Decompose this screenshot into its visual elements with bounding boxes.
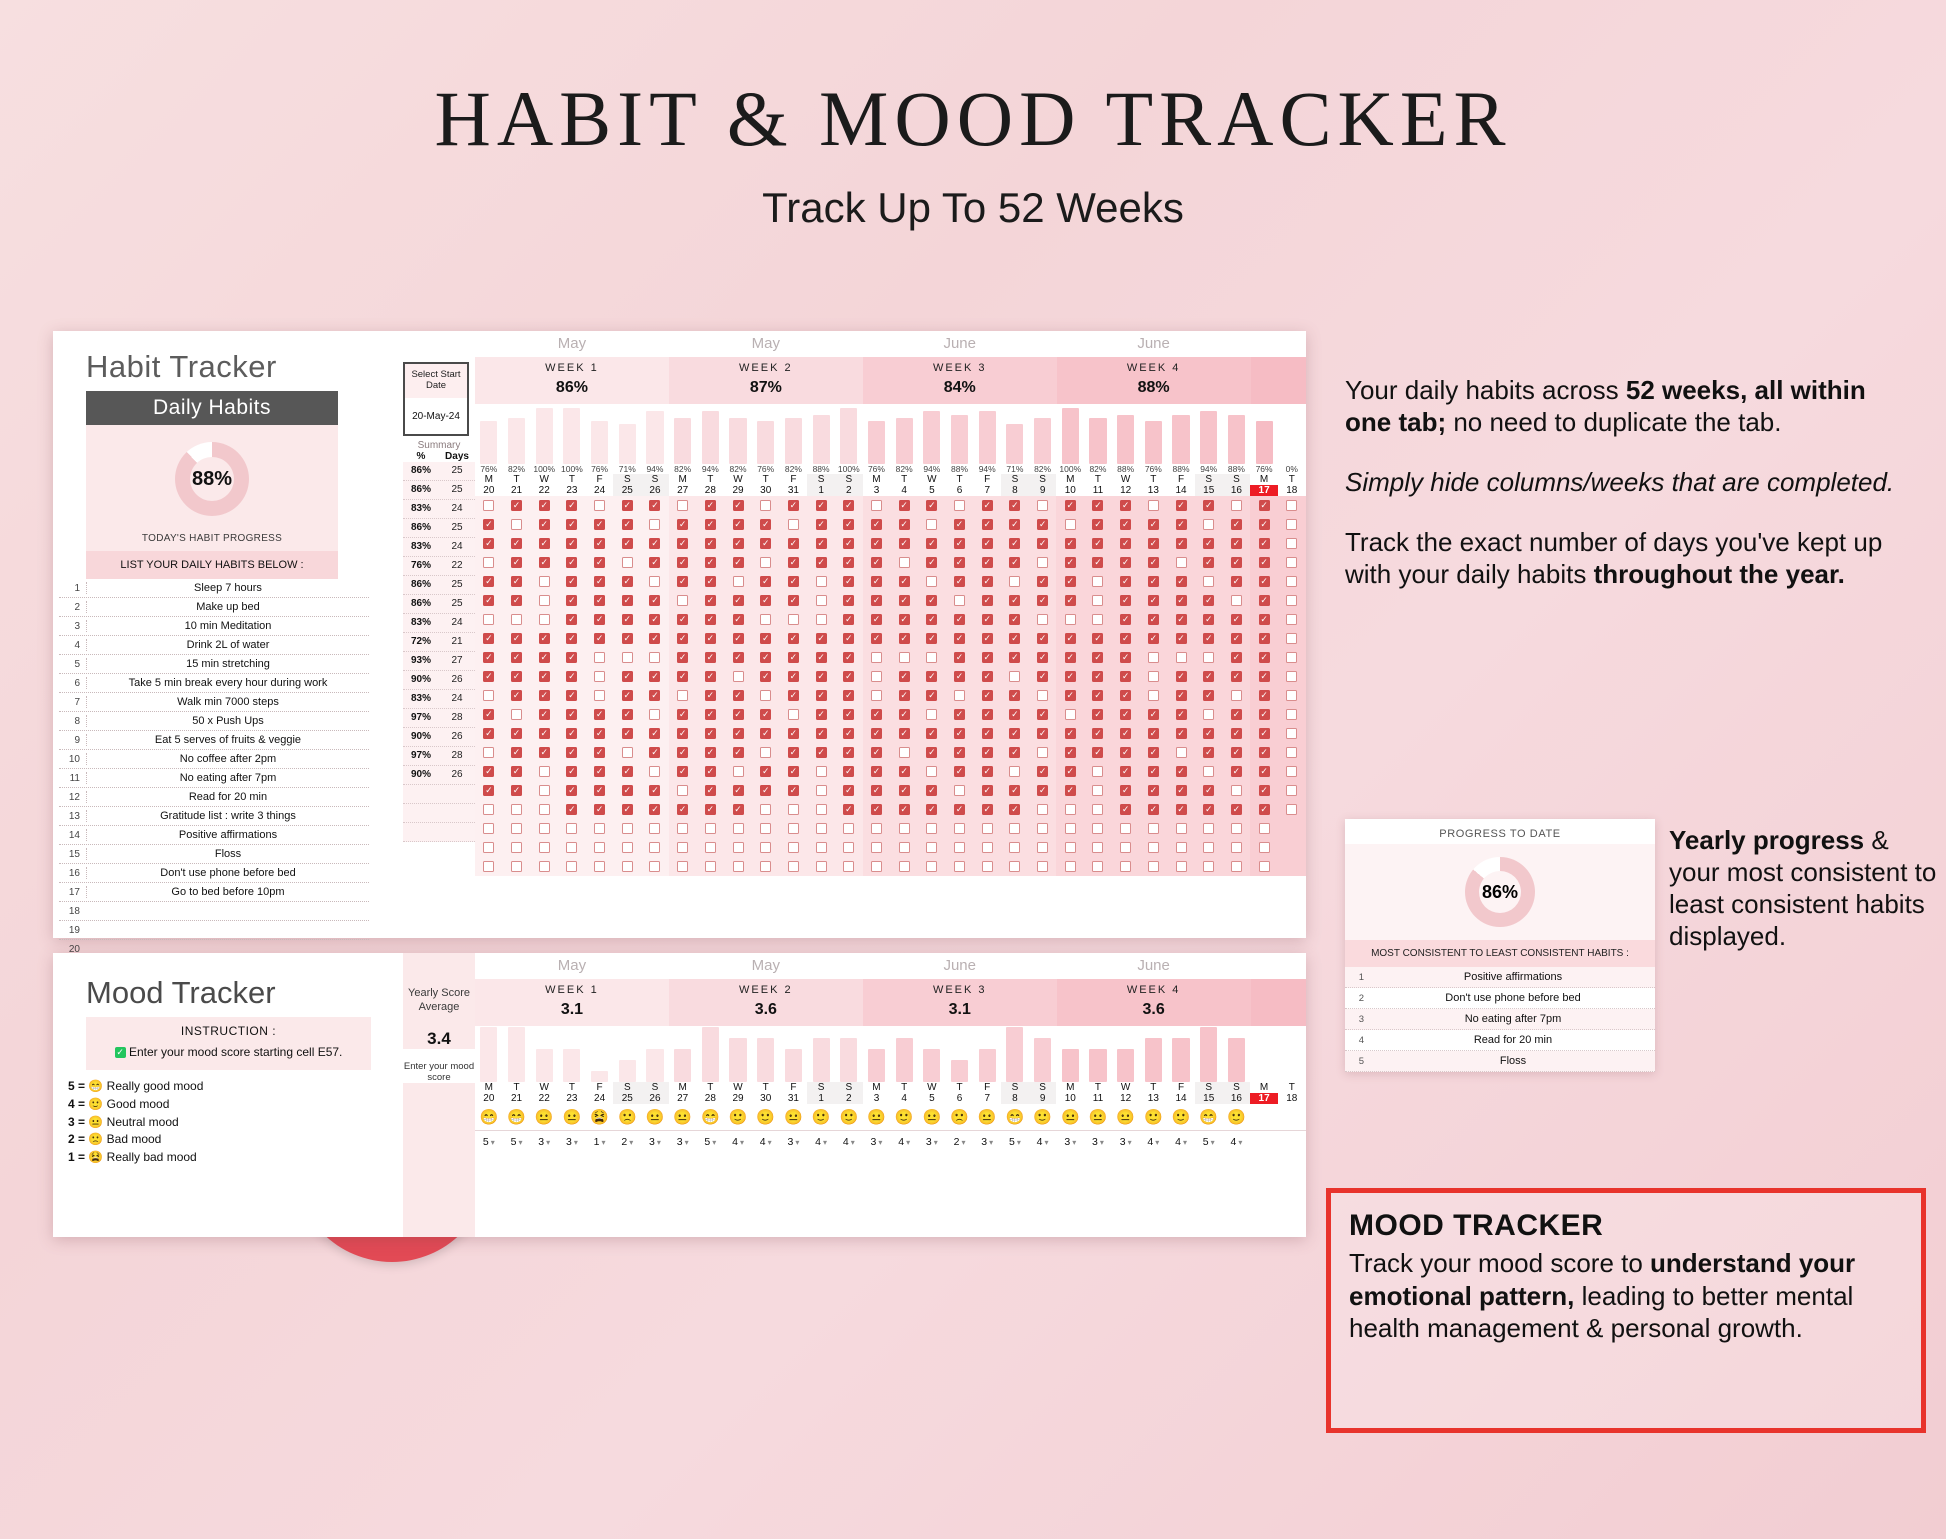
habit-checkbox[interactable]: [899, 519, 910, 530]
habit-check-cell[interactable]: [1278, 648, 1306, 667]
habit-checkbox[interactable]: [871, 861, 882, 872]
habit-checkbox[interactable]: [677, 747, 688, 758]
habit-check-cell[interactable]: [1112, 743, 1140, 762]
habit-check-cell[interactable]: [835, 857, 863, 876]
habit-check-cell[interactable]: [863, 857, 891, 876]
habit-check-cell[interactable]: [558, 553, 586, 572]
habit-check-cell[interactable]: [1084, 496, 1112, 515]
habit-checkbox[interactable]: [788, 766, 799, 777]
habit-check-cell[interactable]: [1195, 781, 1223, 800]
habit-checkbox[interactable]: [539, 766, 550, 777]
habit-checkbox[interactable]: [511, 633, 522, 644]
habit-check-cell[interactable]: [613, 686, 641, 705]
habit-checkbox[interactable]: [483, 690, 494, 701]
habit-checkbox[interactable]: [677, 652, 688, 663]
habit-check-cell[interactable]: [1084, 819, 1112, 838]
habit-checkbox[interactable]: [1120, 709, 1131, 720]
habit-checkbox[interactable]: [566, 576, 577, 587]
habit-checkbox[interactable]: [954, 614, 965, 625]
habit-check-cell[interactable]: [586, 591, 614, 610]
habit-checkbox[interactable]: [566, 861, 577, 872]
habit-checkbox[interactable]: [511, 500, 522, 511]
habit-checkbox[interactable]: [1037, 766, 1048, 777]
habit-checkbox[interactable]: [843, 728, 854, 739]
habit-checkbox[interactable]: [622, 633, 633, 644]
habit-check-cell[interactable]: [530, 724, 558, 743]
chevron-down-icon[interactable]: ▾: [1017, 1138, 1021, 1147]
habit-checkbox[interactable]: [788, 614, 799, 625]
habit-checkbox[interactable]: [1009, 652, 1020, 663]
habit-check-cell[interactable]: [1250, 610, 1278, 629]
habit-check-cell[interactable]: [780, 648, 808, 667]
habit-checkbox[interactable]: [622, 538, 633, 549]
habit-checkbox[interactable]: [1176, 842, 1187, 853]
mood-score-cell[interactable]: 3▾: [863, 1136, 891, 1148]
habit-checkbox[interactable]: [788, 747, 799, 758]
habit-check-cell[interactable]: [1056, 705, 1084, 724]
habit-check-cell[interactable]: [890, 572, 918, 591]
habit-check-cell[interactable]: [1278, 819, 1306, 838]
habit-check-cell[interactable]: [530, 686, 558, 705]
habit-check-cell[interactable]: [1001, 553, 1029, 572]
mood-score-cell[interactable]: 5▾: [1195, 1136, 1223, 1148]
habit-check-cell[interactable]: [641, 610, 669, 629]
habit-check-cell[interactable]: [1056, 515, 1084, 534]
habit-checkbox[interactable]: [622, 804, 633, 815]
habit-check-cell[interactable]: [1084, 515, 1112, 534]
habit-check-cell[interactable]: [890, 705, 918, 724]
habit-checkbox[interactable]: [1065, 690, 1076, 701]
start-date-picker[interactable]: Select Start Date 20-May-24: [403, 362, 469, 436]
habit-checkbox[interactable]: [649, 842, 660, 853]
habit-checkbox[interactable]: [1259, 823, 1270, 834]
habit-check-cell[interactable]: [1084, 629, 1112, 648]
habit-checkbox[interactable]: [677, 785, 688, 796]
habit-check-cell[interactable]: [1140, 496, 1168, 515]
habit-checkbox[interactable]: [1259, 766, 1270, 777]
habit-checkbox[interactable]: [954, 728, 965, 739]
habit-check-cell[interactable]: [697, 762, 725, 781]
mood-score-cell[interactable]: 3▾: [1056, 1136, 1084, 1148]
habit-check-cell[interactable]: [1278, 724, 1306, 743]
habit-checkbox[interactable]: [1286, 728, 1297, 739]
habit-checkbox[interactable]: [1259, 747, 1270, 758]
habit-checkbox[interactable]: [1148, 823, 1159, 834]
habit-check-cell[interactable]: [1223, 819, 1251, 838]
habit-checkbox[interactable]: [954, 538, 965, 549]
habit-checkbox[interactable]: [1286, 804, 1297, 815]
habit-name[interactable]: Go to bed before 10pm: [86, 886, 369, 898]
habit-check-cell[interactable]: [973, 857, 1001, 876]
habit-checkbox[interactable]: [1259, 519, 1270, 530]
habit-checkbox[interactable]: [566, 538, 577, 549]
habit-check-cell[interactable]: [503, 496, 531, 515]
habit-checkbox[interactable]: [1065, 671, 1076, 682]
habit-checkbox[interactable]: [483, 861, 494, 872]
habit-checkbox[interactable]: [816, 671, 827, 682]
habit-checkbox[interactable]: [705, 671, 716, 682]
habit-check-cell[interactable]: [558, 724, 586, 743]
habit-checkbox[interactable]: [1092, 595, 1103, 606]
habit-checkbox[interactable]: [483, 842, 494, 853]
habit-checkbox[interactable]: [871, 842, 882, 853]
habit-check-cell[interactable]: [697, 819, 725, 838]
habit-checkbox[interactable]: [788, 500, 799, 511]
habit-checkbox[interactable]: [677, 842, 688, 853]
habit-checkbox[interactable]: [1092, 709, 1103, 720]
habit-checkbox[interactable]: [760, 652, 771, 663]
habit-checkbox[interactable]: [677, 576, 688, 587]
habit-check-cell[interactable]: [1223, 762, 1251, 781]
habit-checkbox[interactable]: [1037, 728, 1048, 739]
habit-check-cell[interactable]: [1140, 705, 1168, 724]
habit-check-cell[interactable]: [641, 686, 669, 705]
habit-check-cell[interactable]: [1084, 534, 1112, 553]
habit-checkbox[interactable]: [677, 690, 688, 701]
habit-check-cell[interactable]: [807, 705, 835, 724]
habit-checkbox[interactable]: [705, 747, 716, 758]
habit-name[interactable]: 10 min Meditation: [86, 620, 369, 632]
habit-check-cell[interactable]: [1140, 743, 1168, 762]
habit-check-cell[interactable]: [475, 838, 503, 857]
habit-checkbox[interactable]: [1203, 861, 1214, 872]
habit-checkbox[interactable]: [816, 633, 827, 644]
habit-checkbox[interactable]: [594, 709, 605, 720]
mood-score-cell[interactable]: 3▾: [558, 1136, 586, 1148]
habit-checkbox[interactable]: [511, 576, 522, 587]
habit-check-cell[interactable]: [780, 667, 808, 686]
habit-check-cell[interactable]: [530, 515, 558, 534]
habit-check-cell[interactable]: [1167, 762, 1195, 781]
habit-checkbox[interactable]: [622, 500, 633, 511]
habit-checkbox[interactable]: [705, 823, 716, 834]
habit-checkbox[interactable]: [733, 557, 744, 568]
habit-check-cell[interactable]: [724, 648, 752, 667]
chevron-down-icon[interactable]: ▾: [906, 1138, 910, 1147]
habit-checkbox[interactable]: [1065, 709, 1076, 720]
habit-checkbox[interactable]: [733, 785, 744, 796]
habit-checkbox[interactable]: [539, 652, 550, 663]
habit-checkbox[interactable]: [1203, 842, 1214, 853]
habit-checkbox[interactable]: [1009, 519, 1020, 530]
habit-check-cell[interactable]: [807, 496, 835, 515]
habit-check-cell[interactable]: [558, 515, 586, 534]
habit-checkbox[interactable]: [1065, 785, 1076, 796]
habit-checkbox[interactable]: [899, 861, 910, 872]
habit-checkbox[interactable]: [1231, 861, 1242, 872]
habit-check-cell[interactable]: [1112, 610, 1140, 629]
habit-check-cell[interactable]: [669, 705, 697, 724]
habit-name[interactable]: Floss: [86, 848, 369, 860]
habit-checkbox[interactable]: [760, 842, 771, 853]
habit-check-cell[interactable]: [641, 591, 669, 610]
habit-check-cell[interactable]: [752, 515, 780, 534]
habit-check-cell[interactable]: [1084, 667, 1112, 686]
habit-check-cell[interactable]: [503, 648, 531, 667]
habit-checkbox[interactable]: [1120, 557, 1131, 568]
habit-check-cell[interactable]: [780, 629, 808, 648]
chevron-down-icon[interactable]: ▾: [712, 1138, 716, 1147]
habit-check-cell[interactable]: [1001, 838, 1029, 857]
habit-checkbox[interactable]: [483, 576, 494, 587]
habit-check-cell[interactable]: [780, 819, 808, 838]
habit-checkbox[interactable]: [511, 557, 522, 568]
mood-score-row[interactable]: 5▾5▾3▾3▾1▾2▾3▾3▾5▾4▾4▾3▾4▾4▾3▾4▾3▾2▾3▾5▾…: [475, 1130, 1306, 1152]
habit-checkbox[interactable]: [843, 614, 854, 625]
habit-checkbox[interactable]: [1203, 785, 1214, 796]
habit-checkbox[interactable]: [760, 861, 771, 872]
habit-check-cell[interactable]: [973, 667, 1001, 686]
habit-checkbox[interactable]: [1037, 519, 1048, 530]
habit-checkbox[interactable]: [1259, 804, 1270, 815]
habit-checkbox[interactable]: [1037, 500, 1048, 511]
chevron-down-icon[interactable]: ▾: [1211, 1138, 1215, 1147]
habit-checkbox[interactable]: [1148, 785, 1159, 796]
habit-check-cell[interactable]: [1195, 667, 1223, 686]
habit-check-cell[interactable]: [475, 743, 503, 762]
habit-checkbox[interactable]: [622, 785, 633, 796]
habit-check-cell[interactable]: [1001, 591, 1029, 610]
habit-check-cell[interactable]: [1029, 686, 1057, 705]
habit-checkbox[interactable]: [1231, 614, 1242, 625]
habit-check-cell[interactable]: [807, 743, 835, 762]
habit-checkbox[interactable]: [843, 671, 854, 682]
habit-checkbox[interactable]: [511, 538, 522, 549]
habit-check-cell[interactable]: [475, 515, 503, 534]
habit-checkbox[interactable]: [1231, 785, 1242, 796]
habit-check-cell[interactable]: [918, 629, 946, 648]
habit-check-cell[interactable]: [890, 838, 918, 857]
habit-checkbox[interactable]: [622, 519, 633, 530]
habit-check-cell[interactable]: [1056, 724, 1084, 743]
habit-check-cell[interactable]: [641, 572, 669, 591]
habit-checkbox[interactable]: [1120, 861, 1131, 872]
habit-checkbox[interactable]: [705, 804, 716, 815]
habit-check-cell[interactable]: [586, 838, 614, 857]
habit-check-cell[interactable]: [918, 838, 946, 857]
habit-check-cell[interactable]: [530, 762, 558, 781]
habit-checkbox[interactable]: [1148, 690, 1159, 701]
habit-check-cell[interactable]: [586, 553, 614, 572]
habit-checkbox[interactable]: [566, 842, 577, 853]
habit-checkbox[interactable]: [871, 785, 882, 796]
habit-check-cell[interactable]: [530, 496, 558, 515]
habit-checkbox[interactable]: [733, 595, 744, 606]
habit-checkbox[interactable]: [483, 671, 494, 682]
habit-checkbox[interactable]: [705, 500, 716, 511]
habit-checkbox[interactable]: [1037, 747, 1048, 758]
habit-checkbox[interactable]: [733, 652, 744, 663]
chevron-down-icon[interactable]: ▾: [851, 1138, 855, 1147]
habit-check-cell[interactable]: [1112, 648, 1140, 667]
habit-checkbox[interactable]: [1176, 538, 1187, 549]
habit-checkbox[interactable]: [1092, 500, 1103, 511]
habit-checkbox[interactable]: [1120, 785, 1131, 796]
habit-checkbox[interactable]: [566, 652, 577, 663]
habit-check-cell[interactable]: [946, 534, 974, 553]
habit-check-cell[interactable]: [863, 534, 891, 553]
habit-checkbox[interactable]: [954, 823, 965, 834]
habit-checkbox[interactable]: [1203, 709, 1214, 720]
habit-checkbox[interactable]: [760, 766, 771, 777]
habit-check-cell[interactable]: [1001, 534, 1029, 553]
habit-check-cell[interactable]: [475, 686, 503, 705]
habit-checkbox[interactable]: [871, 576, 882, 587]
habit-check-cell[interactable]: [918, 857, 946, 876]
habit-checkbox[interactable]: [677, 861, 688, 872]
habit-check-cell[interactable]: [1029, 496, 1057, 515]
chevron-down-icon[interactable]: ▾: [878, 1138, 882, 1147]
habit-checkbox[interactable]: [1148, 728, 1159, 739]
habit-check-cell[interactable]: [780, 857, 808, 876]
habit-checkbox[interactable]: [982, 595, 993, 606]
habit-checkbox[interactable]: [1092, 538, 1103, 549]
habit-check-cell[interactable]: [1001, 648, 1029, 667]
chevron-down-icon[interactable]: ▾: [795, 1138, 799, 1147]
habit-checkbox[interactable]: [622, 557, 633, 568]
habit-checkbox[interactable]: [594, 785, 605, 796]
habit-checkbox[interactable]: [1203, 500, 1214, 511]
habit-name[interactable]: 50 x Push Ups: [86, 715, 369, 727]
habit-checkbox[interactable]: [788, 842, 799, 853]
habit-check-cell[interactable]: [697, 743, 725, 762]
habit-checkbox[interactable]: [1286, 519, 1297, 530]
habit-checkbox[interactable]: [1009, 671, 1020, 682]
habit-check-cell[interactable]: [530, 629, 558, 648]
habit-checkbox[interactable]: [816, 557, 827, 568]
habit-checkbox[interactable]: [483, 785, 494, 796]
habit-checkbox[interactable]: [539, 728, 550, 739]
habit-checkbox[interactable]: [1231, 652, 1242, 663]
habit-check-cell[interactable]: [780, 800, 808, 819]
habit-check-cell[interactable]: [863, 496, 891, 515]
habit-check-cell[interactable]: [503, 762, 531, 781]
habit-checkbox[interactable]: [1148, 557, 1159, 568]
habit-check-cell[interactable]: [669, 553, 697, 572]
habit-check-cell[interactable]: [697, 648, 725, 667]
habit-check-cell[interactable]: [724, 591, 752, 610]
habit-check-cell[interactable]: [973, 819, 1001, 838]
mood-score-cell[interactable]: 5▾: [503, 1136, 531, 1148]
habit-checkbox[interactable]: [926, 766, 937, 777]
habit-check-cell[interactable]: [669, 762, 697, 781]
habit-check-cell[interactable]: [890, 534, 918, 553]
habit-check-cell[interactable]: [1001, 819, 1029, 838]
habit-check-cell[interactable]: [669, 800, 697, 819]
habit-checkbox[interactable]: [1148, 500, 1159, 511]
habit-check-cell[interactable]: [807, 838, 835, 857]
habit-check-cell[interactable]: [946, 515, 974, 534]
habit-checkbox[interactable]: [1120, 576, 1131, 587]
habit-check-cell[interactable]: [724, 553, 752, 572]
habit-checkbox[interactable]: [539, 500, 550, 511]
habit-checkbox[interactable]: [1286, 709, 1297, 720]
habit-check-cell[interactable]: [1223, 572, 1251, 591]
habit-checkbox[interactable]: [954, 595, 965, 606]
habit-check-cell[interactable]: [1056, 629, 1084, 648]
habit-checkbox[interactable]: [1231, 804, 1242, 815]
habit-checkbox[interactable]: [1037, 861, 1048, 872]
habit-checkbox[interactable]: [594, 804, 605, 815]
habit-checkbox[interactable]: [677, 595, 688, 606]
habit-checkbox[interactable]: [594, 576, 605, 587]
habit-check-cell[interactable]: [863, 515, 891, 534]
habit-check-cell[interactable]: [613, 572, 641, 591]
habit-checkbox[interactable]: [1286, 633, 1297, 644]
habit-checkbox[interactable]: [982, 519, 993, 530]
habit-check-cell[interactable]: [918, 648, 946, 667]
habit-checkbox[interactable]: [1092, 861, 1103, 872]
habit-checkbox[interactable]: [677, 633, 688, 644]
habit-checkbox[interactable]: [1286, 785, 1297, 796]
habit-check-cell[interactable]: [641, 762, 669, 781]
habit-check-cell[interactable]: [1112, 534, 1140, 553]
habit-checkbox[interactable]: [1092, 652, 1103, 663]
habit-check-cell[interactable]: [890, 743, 918, 762]
habit-checkbox[interactable]: [871, 614, 882, 625]
habit-checkbox[interactable]: [622, 671, 633, 682]
habit-check-cell[interactable]: [1167, 629, 1195, 648]
habit-check-cell[interactable]: [1278, 515, 1306, 534]
habit-checkbox[interactable]: [1037, 823, 1048, 834]
habit-checkbox[interactable]: [1231, 633, 1242, 644]
habit-checkbox[interactable]: [511, 519, 522, 530]
habit-check-cell[interactable]: [1278, 553, 1306, 572]
habit-checkbox[interactable]: [1286, 652, 1297, 663]
habit-checkbox[interactable]: [1009, 595, 1020, 606]
habit-check-cell[interactable]: [1001, 610, 1029, 629]
habit-check-cell[interactable]: [1167, 667, 1195, 686]
habit-check-cell[interactable]: [697, 553, 725, 572]
habit-check-cell[interactable]: [835, 572, 863, 591]
habit-check-cell[interactable]: [669, 610, 697, 629]
habit-checkbox[interactable]: [871, 595, 882, 606]
habit-checkbox[interactable]: [1176, 671, 1187, 682]
habit-checkbox[interactable]: [816, 690, 827, 701]
habit-check-cell[interactable]: [724, 762, 752, 781]
habit-name[interactable]: 15 min stretching: [86, 658, 369, 670]
habit-checkbox[interactable]: [511, 766, 522, 777]
habit-checkbox[interactable]: [926, 595, 937, 606]
habit-checkbox[interactable]: [1231, 728, 1242, 739]
habit-check-cell[interactable]: [475, 591, 503, 610]
habit-check-cell[interactable]: [835, 648, 863, 667]
mood-score-cell[interactable]: 4▾: [752, 1136, 780, 1148]
habit-check-cell[interactable]: [475, 762, 503, 781]
habit-check-cell[interactable]: [697, 515, 725, 534]
habit-checkbox[interactable]: [705, 595, 716, 606]
habit-checkbox[interactable]: [566, 804, 577, 815]
habit-check-cell[interactable]: [973, 838, 1001, 857]
habit-check-cell[interactable]: [530, 610, 558, 629]
habit-checkbox[interactable]: [1009, 766, 1020, 777]
habit-check-cell[interactable]: [752, 629, 780, 648]
habit-check-cell[interactable]: [669, 648, 697, 667]
habit-checkbox[interactable]: [1092, 614, 1103, 625]
habit-checkbox[interactable]: [483, 595, 494, 606]
habit-checkbox[interactable]: [816, 861, 827, 872]
habit-check-cell[interactable]: [1223, 857, 1251, 876]
habit-check-cell[interactable]: [697, 724, 725, 743]
habit-checkbox[interactable]: [1286, 576, 1297, 587]
habit-check-cell[interactable]: [697, 667, 725, 686]
habit-check-cell[interactable]: [946, 667, 974, 686]
habit-checkbox[interactable]: [1120, 747, 1131, 758]
habit-check-cell[interactable]: [863, 819, 891, 838]
habit-checkbox[interactable]: [816, 614, 827, 625]
habit-checkbox[interactable]: [816, 500, 827, 511]
habit-checkbox[interactable]: [649, 652, 660, 663]
